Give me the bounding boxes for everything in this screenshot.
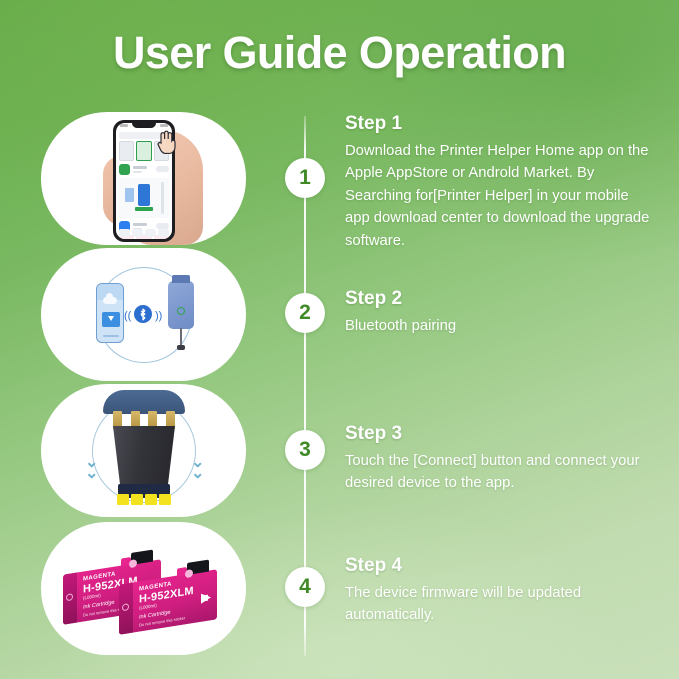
step-image-card-2: (( )) <box>41 248 246 381</box>
step-badge-2[interactable]: 2 <box>285 293 325 333</box>
step-image-card-4: MAGENTA H-952XLM (L000ml) Ink Cartridge … <box>41 522 246 655</box>
step-text-1: Step 1 Download the Printer Helper Home … <box>345 113 657 252</box>
illustration-ink-cartridges: MAGENTA H-952XLM (L000ml) Ink Cartridge … <box>41 522 246 655</box>
chevron-down-icon-right: ⌄⌄ <box>191 457 204 479</box>
step-body-3: Touch the [Connect] button and connect y… <box>345 450 657 495</box>
cursor-hand-icon <box>157 130 177 154</box>
step-badge-4[interactable]: 4 <box>285 567 325 607</box>
step-title-2: Step 2 <box>345 288 657 310</box>
step-text-4: Step 4 The device firmware will be updat… <box>345 555 657 627</box>
step-image-card-3: ⌄⌄ ⌄⌄ <box>41 384 246 517</box>
step-text-3: Step 3 Touch the [Connect] button and co… <box>345 423 657 495</box>
step-body-1: Download the Printer Helper Home app on … <box>345 140 657 252</box>
phone-notch <box>132 123 156 128</box>
step-title-3: Step 3 <box>345 423 657 445</box>
chevron-down-icon-left: ⌄⌄ <box>85 457 98 479</box>
resetter-contacts <box>117 494 171 505</box>
step-title-1: Step 1 <box>345 113 657 135</box>
illustration-chip-resetter: ⌄⌄ ⌄⌄ <box>41 384 246 517</box>
step-title-4: Step 4 <box>345 555 657 577</box>
step-body-4: The device firmware will be updated auto… <box>345 582 657 627</box>
page-title: User Guide Operation <box>0 27 679 79</box>
step-text-2: Step 2 Bluetooth pairing <box>345 288 657 337</box>
illustration-hand-phone <box>41 112 246 245</box>
illustration-bluetooth-pairing: (( )) <box>41 248 246 381</box>
bluetooth-dongle-device <box>168 281 194 329</box>
arrow-icon <box>201 592 211 604</box>
resetter-body <box>113 426 175 488</box>
signal-wave-right-icon: )) <box>155 310 162 322</box>
dongle-cable <box>180 328 182 346</box>
step-body-2: Bluetooth pairing <box>345 315 657 337</box>
signal-wave-left-icon: (( <box>124 310 131 322</box>
step-image-card-1 <box>41 112 246 245</box>
step-badge-3[interactable]: 3 <box>285 430 325 470</box>
phone-device-2 <box>96 283 124 343</box>
bluetooth-icon <box>134 305 152 323</box>
step-badge-1[interactable]: 1 <box>285 158 325 198</box>
